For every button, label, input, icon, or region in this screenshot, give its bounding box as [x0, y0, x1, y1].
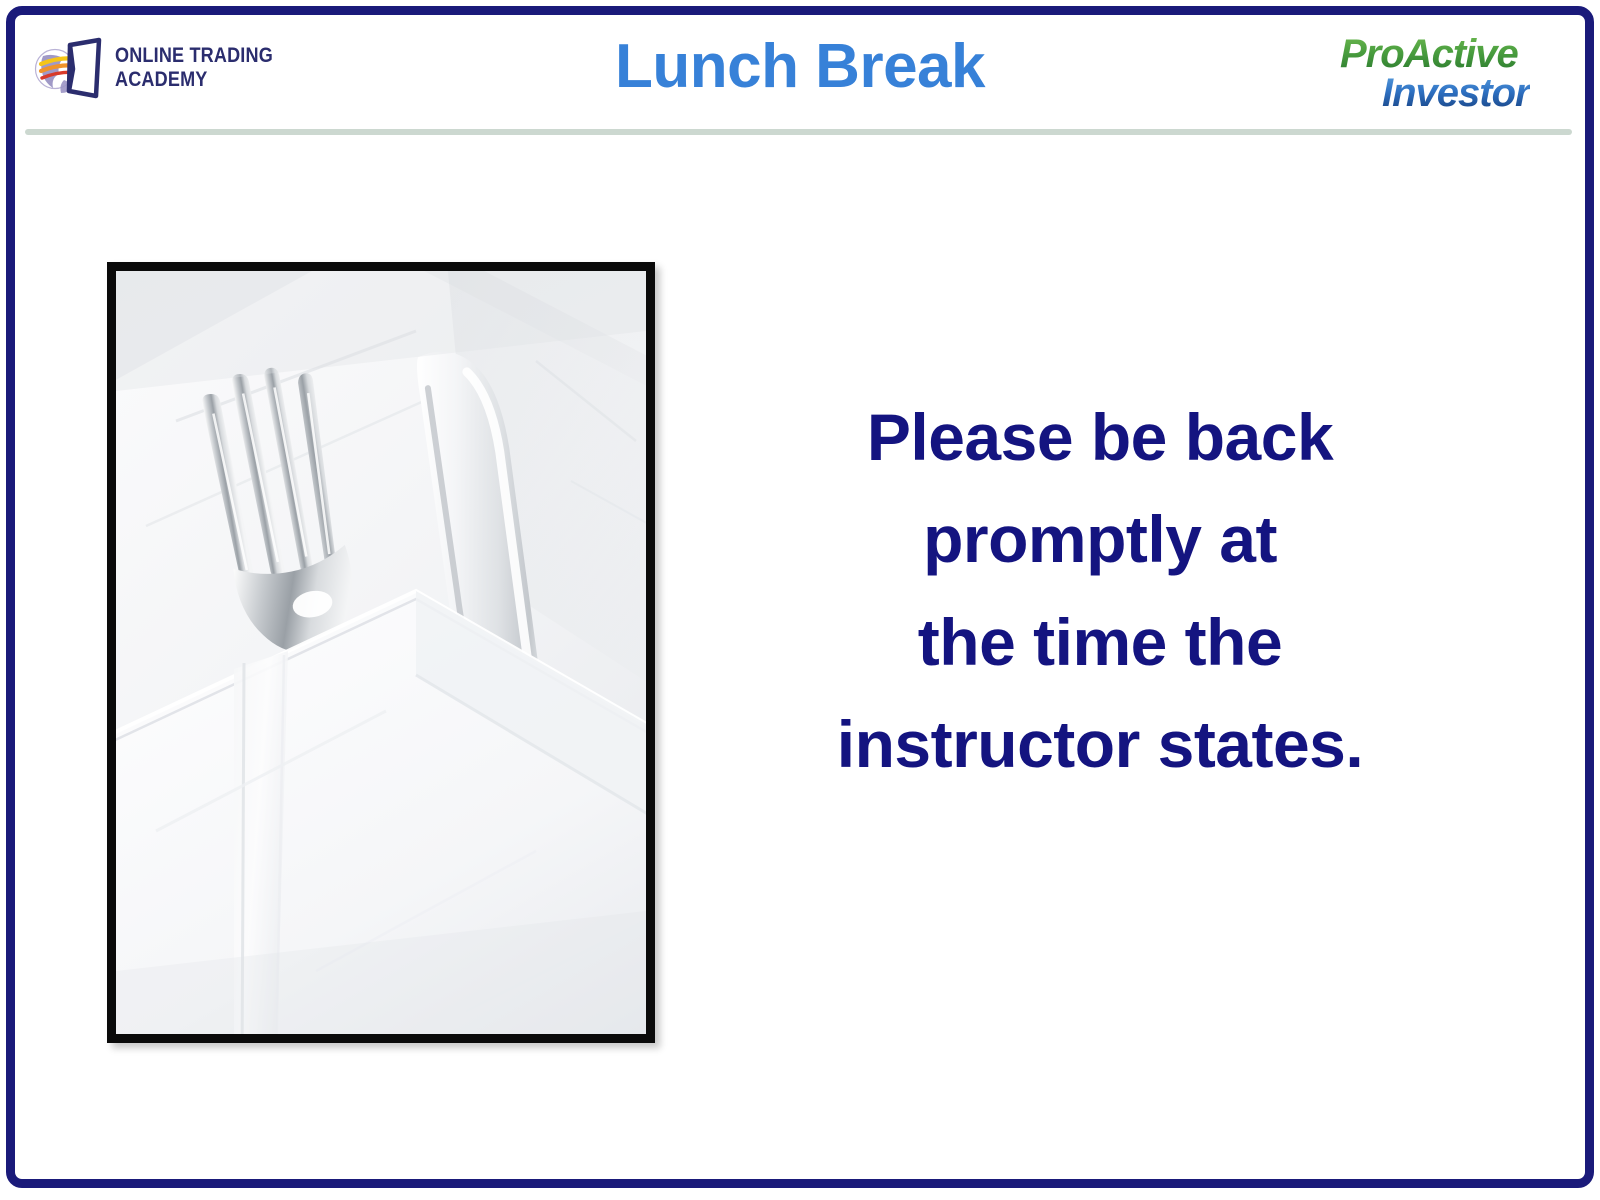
body-text: Please be back promptly at the time the … [735, 386, 1465, 795]
proactive-investor-logo: ProActive Investor [1326, 32, 1576, 112]
proactive-investor-line2: Investor [1382, 73, 1530, 113]
photo-image [116, 271, 646, 1034]
slide-header: ONLINE TRADING ACADEMY Lunch Break ProAc… [0, 0, 1600, 140]
proactive-investor-line1: ProActive [1340, 34, 1518, 74]
body-line-1: Please be back [735, 386, 1465, 488]
body-line-2: promptly at [735, 488, 1465, 590]
body-line-4: instructor states. [735, 693, 1465, 795]
header-divider [25, 129, 1572, 135]
place-setting-photo [107, 262, 655, 1043]
body-line-3: the time the [735, 591, 1465, 693]
slide: ONLINE TRADING ACADEMY Lunch Break ProAc… [0, 0, 1600, 1200]
